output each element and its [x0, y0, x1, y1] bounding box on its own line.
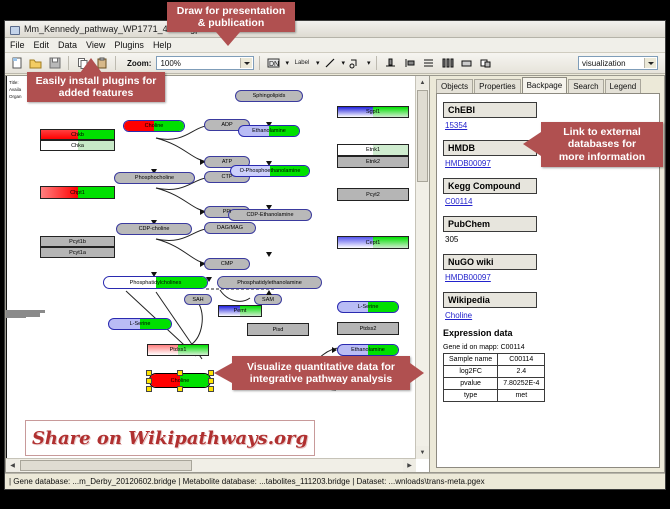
- toolbar-separator: [68, 56, 69, 70]
- node-label-sphingolipids: Sphingolipids: [253, 93, 286, 99]
- node-label-cdp-choline: CDP-choline: [139, 226, 170, 232]
- callout-links-line2: databases for: [568, 138, 636, 150]
- status-text: | Gene database: ...m_Derby_20120602.bri…: [9, 477, 485, 486]
- gene-box-etnk1[interactable]: Etnk1: [337, 144, 409, 156]
- node-ethanolamine-bottom[interactable]: Ethanolamine: [337, 344, 399, 356]
- order-icon[interactable]: [477, 55, 494, 72]
- arrow-into-pc: [206, 277, 212, 282]
- distribute-icon[interactable]: [439, 55, 456, 72]
- node-label-choline-selected: Choline: [171, 378, 190, 384]
- selection-handle-tc[interactable]: [177, 370, 183, 376]
- gene-label-chkb: Chkb: [71, 132, 84, 138]
- callout-visualize-arrow-left: [214, 363, 232, 383]
- callout-links-line1: Link to external: [563, 126, 641, 138]
- gene-box-pemt[interactable]: Pemt: [218, 305, 262, 317]
- zoom-value: 100%: [160, 59, 180, 68]
- tool-bar: Zoom: 100% DN ▾ Label ▾ ▾ ▾ visualizatio…: [5, 53, 665, 74]
- callout-draw-line1: Draw for presentation: [177, 5, 286, 17]
- edge-pisd: [6, 317, 26, 318]
- callout-plugins-line1: Easily install plugins for: [36, 75, 157, 87]
- tab-backpage[interactable]: Backpage: [522, 77, 568, 93]
- edge-ethanolamine-ope: [6, 215, 7, 243]
- tab-search[interactable]: Search: [568, 79, 603, 93]
- scroll-up-icon[interactable]: ▲: [416, 76, 429, 89]
- canvas-info-title: Title:: [9, 80, 19, 85]
- node-label-ppi: PPi: [223, 209, 232, 215]
- edge-return-pe-left: [6, 318, 7, 408]
- callout-visualize-line2: integrative pathway analysis: [250, 373, 392, 385]
- new-icon[interactable]: [8, 55, 25, 72]
- gene-label-etnk2: Etnk2: [366, 159, 380, 165]
- gene-label-pcyt2: Pcyt2: [366, 192, 380, 198]
- table-row: type met: [444, 390, 545, 402]
- backpage-value-pubchem: 305: [445, 235, 659, 244]
- node-label-l-serine-left: L-Serine: [130, 321, 151, 327]
- canvas-hscroll-thumb[interactable]: [20, 460, 192, 471]
- gene-box-chpt1[interactable]: Chpt1: [40, 186, 115, 199]
- node-sah[interactable]: SAH: [184, 294, 212, 305]
- expr-key-log2fc: log2FC: [444, 366, 498, 378]
- visualization-combobox[interactable]: visualization: [578, 56, 658, 70]
- interaction-dropdown-arrow[interactable]: ▾: [367, 59, 371, 67]
- callout-share: Share on Wikipathways.org: [25, 420, 315, 456]
- edge-choline-phosphocholine: [6, 76, 7, 113]
- node-ethanolamine[interactable]: Ethanolamine: [238, 125, 300, 137]
- node-cdp-choline[interactable]: CDP-choline: [116, 223, 192, 235]
- table-row: pvalue 7.80252E-4: [444, 378, 545, 390]
- arrow-to-cmp: [200, 261, 205, 267]
- callout-visualize: Visualize quantitative data for integrat…: [232, 356, 410, 390]
- expr-key-sample-name: Sample name: [444, 354, 498, 366]
- expression-data-title: Expression data: [443, 328, 659, 338]
- svg-text:DN: DN: [269, 61, 279, 68]
- node-l-serine-left[interactable]: L-Serine: [108, 318, 172, 330]
- menu-item-view[interactable]: View: [86, 40, 105, 50]
- node-label-choline-top: Choline: [145, 123, 164, 129]
- node-label-phosphatidylethanolamine: Phosphatidylethanolamine: [237, 280, 302, 286]
- backpage-header-wikipedia: Wikipedia: [443, 292, 537, 308]
- callout-plugins-line2: added features: [59, 87, 134, 99]
- side-panel-tabs: Objects Properties Backpage Search Legen…: [436, 78, 662, 93]
- node-label-sam: SAM: [262, 297, 274, 303]
- node-phosphatidylethanolamine[interactable]: Phosphatidylethanolamine: [217, 276, 322, 289]
- backpage-header-kegg: Kegg Compound: [443, 178, 537, 194]
- gene-label-sgpl1: Sgpl1: [366, 109, 380, 115]
- menu-item-edit[interactable]: Edit: [34, 40, 50, 50]
- gene-label-pcyt1b: Pcyt1b: [69, 239, 86, 245]
- stack-icon[interactable]: [420, 55, 437, 72]
- node-label-adp: ADP: [221, 122, 232, 128]
- edge-sphingolipids-ethanolamine: [6, 190, 7, 215]
- backpage-link-nugo[interactable]: HMDB00097: [445, 273, 659, 282]
- arrow-to-ppi: [200, 209, 205, 215]
- interaction-icon[interactable]: [347, 55, 364, 72]
- visualization-value: visualization: [582, 59, 626, 68]
- expr-key-type: type: [444, 390, 498, 402]
- open-icon[interactable]: [27, 55, 44, 72]
- gene-label-pemt: Pemt: [234, 308, 247, 314]
- callout-draw-line2: & publication: [198, 17, 265, 29]
- callout-visualize-line1: Visualize quantitative data for: [247, 361, 395, 373]
- canvas-vertical-scrollbar[interactable]: ▲ ▼: [415, 76, 429, 459]
- node-label-atp: ATP: [222, 159, 232, 165]
- canvas-info-available: Availa: [9, 87, 21, 92]
- gene-box-ptdss2[interactable]: Ptdss2: [337, 322, 399, 335]
- node-cmp[interactable]: CMP: [204, 258, 250, 270]
- node-o-phosphoethanolamine[interactable]: O-Phosphoethanolamine: [230, 165, 310, 177]
- node-label-l-serine-right: L-Serine: [358, 304, 379, 310]
- app-icon: [9, 24, 20, 35]
- callout-draw-arrow-down: [216, 32, 240, 46]
- gene-box-pcyt1a[interactable]: Pcyt1a: [40, 247, 115, 258]
- toolbar-separator-4: [376, 56, 377, 70]
- label-icon[interactable]: Label: [291, 55, 313, 72]
- selection-handle-bc[interactable]: [177, 386, 183, 392]
- gene-box-pisd[interactable]: Pisd: [247, 323, 309, 336]
- canvas-horizontal-scrollbar[interactable]: ◀ ▶: [6, 458, 416, 472]
- callout-links-arrow-left: [523, 132, 541, 156]
- menu-item-plugins[interactable]: Plugins: [114, 40, 144, 50]
- menu-item-file[interactable]: File: [10, 40, 25, 50]
- status-bar: | Gene database: ...m_Derby_20120602.bri…: [5, 473, 665, 489]
- expr-val-type: met: [498, 390, 545, 402]
- node-label-phosphocholine: Phosphocholine: [135, 175, 174, 181]
- callout-plugins: Easily install plugins for added feature…: [27, 72, 165, 102]
- datanode-icon[interactable]: DN: [265, 55, 282, 72]
- gene-label-etnk1: Etnk1: [366, 147, 380, 153]
- backpage-link-kegg[interactable]: C00114: [445, 197, 659, 206]
- save-icon[interactable]: [46, 55, 63, 72]
- zoom-label: Zoom:: [127, 59, 151, 68]
- node-label-o-phosphoethanolamine: O-Phosphoethanolamine: [240, 168, 301, 174]
- pathway-canvas[interactable]: Title: Availa Organ: [6, 76, 417, 460]
- visualization-chevron-down-icon[interactable]: [644, 58, 656, 68]
- pathway-canvas-pane[interactable]: Title: Availa Organ: [5, 75, 430, 473]
- tab-legend[interactable]: Legend: [605, 79, 642, 93]
- node-label-ethanolamine-bottom: Ethanolamine: [351, 347, 385, 353]
- window-titlebar: Mm_Kennedy_pathway_WP1771_45176.gpml: [5, 21, 665, 38]
- line-icon[interactable]: [321, 55, 338, 72]
- edge-phosphocholine-cdpcholine: [6, 113, 7, 151]
- expr-val-pvalue: 7.80252E-4: [498, 378, 545, 390]
- gene-box-pcyt1b[interactable]: Pcyt1b: [40, 236, 115, 247]
- node-dag-mag[interactable]: DAG/MAG: [204, 222, 256, 234]
- expression-table: Sample name C00114 log2FC 2.4 pvalue 7.8…: [443, 353, 545, 402]
- callout-links-line3: more information: [559, 151, 645, 163]
- chevron-down-icon[interactable]: [240, 58, 252, 68]
- arrow-to-ethanolamine-bottom: [332, 347, 337, 353]
- selection-handle-tl[interactable]: [146, 370, 152, 376]
- label-dropdown-arrow[interactable]: ▾: [316, 59, 320, 67]
- align-left-icon[interactable]: [401, 55, 418, 72]
- callout-links: Link to external databases for more info…: [541, 122, 663, 167]
- align-top-icon[interactable]: [382, 55, 399, 72]
- backpage-header-pubchem: PubChem: [443, 216, 537, 232]
- gene-label-chpt1: Chpt1: [70, 190, 85, 196]
- scroll-right-icon[interactable]: ▶: [403, 459, 416, 472]
- tab-objects[interactable]: Objects: [436, 79, 473, 93]
- gene-label-cept1: Cept1: [366, 240, 381, 246]
- node-label-dag-mag: DAG/MAG: [217, 225, 243, 231]
- menu-item-data[interactable]: Data: [58, 40, 77, 50]
- gene-label-pisd: Pisd: [273, 327, 284, 333]
- gene-label-ptdss2: Ptdss2: [360, 326, 377, 332]
- node-label-cdp-ethanolamine: CDP-Ethanolamine: [246, 212, 293, 218]
- backpage-header-nugo: NuGO wiki: [443, 254, 537, 270]
- selection-handle-ml[interactable]: [146, 378, 152, 384]
- scroll-left-icon[interactable]: ◀: [6, 459, 19, 472]
- node-label-ethanolamine: Ethanolamine: [252, 128, 286, 134]
- toolbar-separator-2: [115, 56, 116, 70]
- expr-val-log2fc: 2.4: [498, 366, 545, 378]
- callout-plugins-arrow-up: [80, 58, 102, 73]
- gene-label-pcyt1a: Pcyt1a: [69, 250, 86, 256]
- gene-box-chkb[interactable]: Chkb: [40, 129, 115, 140]
- gene-box-pcyt2[interactable]: Pcyt2: [337, 188, 409, 201]
- node-cdp-ethanolamine[interactable]: CDP-Ethanolamine: [228, 209, 312, 221]
- node-l-serine-right[interactable]: L-Serine: [337, 301, 399, 313]
- selection-handle-br[interactable]: [208, 386, 214, 392]
- label-text: Label: [295, 60, 310, 66]
- node-sam[interactable]: SAM: [254, 294, 282, 305]
- edge-ope-cdpetn: [6, 243, 7, 275]
- zoom-combobox[interactable]: 100%: [156, 56, 254, 70]
- gene-box-etnk2[interactable]: Etnk2: [337, 156, 409, 168]
- datanode-dropdown-arrow[interactable]: ▾: [285, 59, 289, 67]
- node-phosphocholine[interactable]: Phosphocholine: [114, 172, 195, 184]
- edge-cdpcholine-pc: [6, 151, 7, 190]
- canvas-vscroll-thumb[interactable]: [417, 90, 428, 182]
- canvas-info-organism: Organ: [9, 94, 22, 99]
- expr-key-pvalue: pvalue: [444, 378, 498, 390]
- arrow-return-pe: [266, 290, 272, 295]
- node-label-phosphatidylcholines: Phosphatidylcholines: [130, 280, 182, 286]
- table-row: log2FC 2.4: [444, 366, 545, 378]
- node-label-cmp: CMP: [221, 261, 233, 267]
- line-dropdown-arrow[interactable]: ▾: [341, 59, 345, 67]
- gene-label-ptdss1: Ptdss1: [170, 347, 187, 353]
- menu-bar: File Edit Data View Plugins Help: [5, 38, 665, 53]
- menu-item-help[interactable]: Help: [153, 40, 172, 50]
- backpage-header-chebi: ChEBI: [443, 102, 537, 118]
- toolbar-separator-3: [259, 56, 260, 70]
- group-icon[interactable]: [458, 55, 475, 72]
- tab-properties[interactable]: Properties: [474, 79, 520, 93]
- callout-visualize-arrow-right: [410, 363, 424, 383]
- arrow-to-atp: [200, 159, 205, 165]
- selection-handle-bl[interactable]: [146, 386, 152, 392]
- callout-share-text: Share on Wikipathways.org: [32, 428, 308, 449]
- gene-box-cept1[interactable]: Cept1: [337, 236, 409, 249]
- backpage-link-wikipedia[interactable]: Choline: [445, 311, 659, 320]
- screenshot-root: Mm_Kennedy_pathway_WP1771_45176.gpml Fil…: [0, 0, 670, 509]
- table-row: Sample name C00114: [444, 354, 545, 366]
- callout-draw: Draw for presentation & publication: [167, 2, 295, 32]
- scroll-down-icon[interactable]: ▼: [416, 446, 429, 459]
- gene-box-chka[interactable]: Chka: [40, 140, 115, 151]
- gene-id-line: Gene id on mapp: C00114: [443, 344, 659, 351]
- node-choline-top[interactable]: Choline: [123, 120, 185, 132]
- gene-box-ptdss1[interactable]: Ptdss1: [147, 344, 209, 356]
- gene-label-chka: Chka: [71, 143, 84, 149]
- gene-box-sgpl1[interactable]: Sgpl1: [337, 106, 409, 118]
- expr-val-sample-name: C00114: [498, 354, 545, 366]
- node-label-ctp: CTP: [222, 174, 233, 180]
- edge-cdpetn-pe: [6, 275, 7, 310]
- arrow-cdpetn-pe: [266, 252, 272, 257]
- node-label-sah: SAH: [192, 297, 203, 303]
- node-phosphatidylcholines[interactable]: Phosphatidylcholines: [103, 276, 208, 289]
- node-sphingolipids[interactable]: Sphingolipids: [235, 90, 303, 102]
